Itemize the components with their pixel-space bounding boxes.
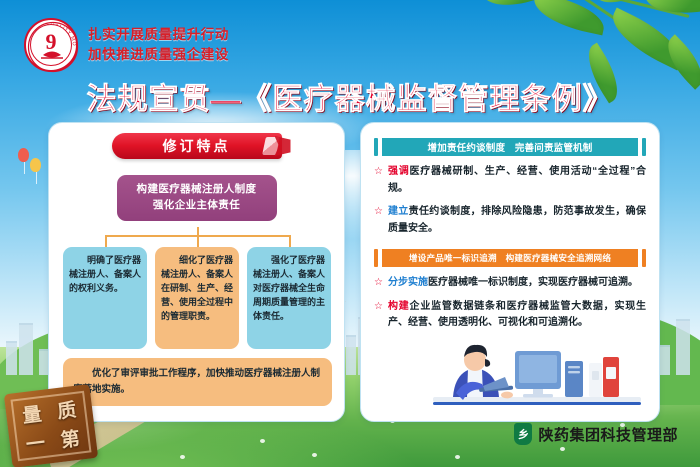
- balloon-yellow: [30, 158, 41, 172]
- star-icon: ☆: [374, 204, 383, 237]
- section-heading-label: 增加责任约谈制度 完善问责监管机制: [382, 138, 638, 156]
- slogan-line-1: 扎实开展质量提升行动: [88, 25, 229, 45]
- bullet-text: 分步实施医疗器械唯一标识制度，实现医疗器械可追溯。: [388, 275, 638, 292]
- ribbon-label: 修订特点: [163, 136, 231, 156]
- heading-accent-right: [642, 249, 646, 267]
- logo-inner-disc: 9: [30, 24, 72, 66]
- connector-drop-3: [289, 235, 291, 247]
- bullet-body: 企业监管数据链条和医疗器械监管大数据，实现生产、经营、使用透明化、可视化和可追溯…: [388, 301, 646, 329]
- slogan-line-2: 加快推进质量强企建设: [88, 45, 229, 65]
- seal-char: 量: [21, 399, 43, 428]
- star-icon: ☆: [374, 299, 383, 332]
- heading-accent-left: [374, 249, 378, 267]
- left-panel-footnote: 优化了审评审批工作程序，加快推动医疗器械注册人制度落地实施。: [63, 358, 332, 406]
- bullet-text: 构建企业监管数据链条和医疗器械监管大数据，实现生产、经营、使用透明化、可视化和可…: [388, 299, 646, 332]
- feature-card: 强化了医疗器械注册人、备案人对医疗器械全生命周期质量管理的主体责任。: [247, 247, 331, 349]
- brand-shield-icon: 乡: [514, 423, 532, 445]
- left-panel-ribbon-title: 修订特点: [112, 133, 282, 159]
- section-heading-accountability: 增加责任约谈制度 完善问责监管机制: [374, 137, 646, 157]
- page-title: 法规宣贯—《医疗器械监督管理条例》: [0, 74, 700, 118]
- seal-face: 量 质 一 第: [10, 391, 91, 462]
- seal-char: 第: [59, 424, 81, 453]
- flowchart-root-node: 构建医疗器械注册人制度 强化企业主体责任: [117, 175, 277, 221]
- footer-brand: 乡 陕药集团科技管理部: [514, 423, 678, 445]
- connector-drop-1: [105, 235, 107, 247]
- quality-month-logo: CHINA QUALITY MONTH 中国质量月 9: [24, 18, 78, 72]
- root-node-line-1: 构建医疗器械注册人制度: [121, 182, 273, 198]
- seal-char: 质: [56, 395, 78, 424]
- feature-card-list: 明确了医疗器械注册人、备案人的权利义务。 细化了医疗器械注册人、备案人在研制、生…: [63, 247, 332, 349]
- office-worker-illustration: [423, 333, 653, 419]
- bullet-item: ☆ 建立责任约谈制度，排除风险隐患，防范事故发生，确保质量安全。: [374, 204, 646, 237]
- bullet-body: 医疗器械研制、生产、经营、使用活动“全过程”合规。: [388, 166, 646, 194]
- bullet-highlight: 分步实施: [388, 277, 428, 288]
- heading-accent-right: [642, 138, 646, 156]
- seal-char: 一: [24, 428, 46, 457]
- bullet-text: 建立责任约谈制度，排除风险隐患，防范事故发生，确保质量安全。: [388, 204, 646, 237]
- right-panel-key-measures: 增加责任约谈制度 完善问责监管机制 ☆ 强调医疗器械研制、生产、经营、使用活动“…: [360, 122, 660, 422]
- star-icon: ☆: [374, 164, 383, 197]
- left-panel-revision-features: 修订特点 构建医疗器械注册人制度 强化企业主体责任 明确了医疗器械注册人、备案人…: [48, 122, 345, 422]
- connector-drop-2: [197, 235, 199, 247]
- bullet-text: 强调医疗器械研制、生产、经营、使用活动“全过程”合规。: [388, 164, 646, 197]
- feature-card: 明确了医疗器械注册人、备案人的权利义务。: [63, 247, 147, 349]
- bullet-item: ☆ 构建企业监管数据链条和医疗器械监管大数据，实现生产、经营、使用透明化、可视化…: [374, 299, 646, 332]
- star-icon: ☆: [374, 275, 383, 292]
- poster-canvas: CHINA QUALITY MONTH 中国质量月 9 扎实开展质量提升行动 加…: [0, 0, 700, 467]
- campaign-slogan: 扎实开展质量提升行动 加快推进质量强企建设: [88, 25, 229, 64]
- decorative-seal-stamp: 量 质 一 第: [4, 384, 98, 467]
- brand-name: 陕药集团科技管理部: [538, 424, 678, 445]
- bullet-highlight: 构建: [388, 301, 410, 312]
- section-heading-udi-traceability: 增设产品唯一标识追溯 构建医疗器械安全追溯网络: [374, 248, 646, 268]
- bullet-body: 医疗器械唯一标识制度，实现医疗器械可追溯。: [428, 277, 638, 288]
- bullet-item: ☆ 分步实施医疗器械唯一标识制度，实现医疗器械可追溯。: [374, 275, 646, 292]
- ribbon-fold-decoration: [262, 137, 280, 155]
- bullet-highlight: 建立: [388, 206, 409, 217]
- bullet-item: ☆ 强调医疗器械研制、生产、经营、使用活动“全过程”合规。: [374, 164, 646, 197]
- bullet-highlight: 强调: [388, 166, 410, 177]
- bullet-body: 责任约谈制度，排除风险隐患，防范事故发生，确保质量安全。: [388, 206, 646, 234]
- balloon-red: [18, 148, 29, 162]
- feature-card: 细化了医疗器械注册人、备案人在研制、生产、经营、使用全过程中的管理职责。: [155, 247, 239, 349]
- heading-accent-left: [374, 138, 378, 156]
- section-heading-label: 增设产品唯一标识追溯 构建医疗器械安全追溯网络: [382, 249, 638, 267]
- root-node-line-2: 强化企业主体责任: [121, 198, 273, 214]
